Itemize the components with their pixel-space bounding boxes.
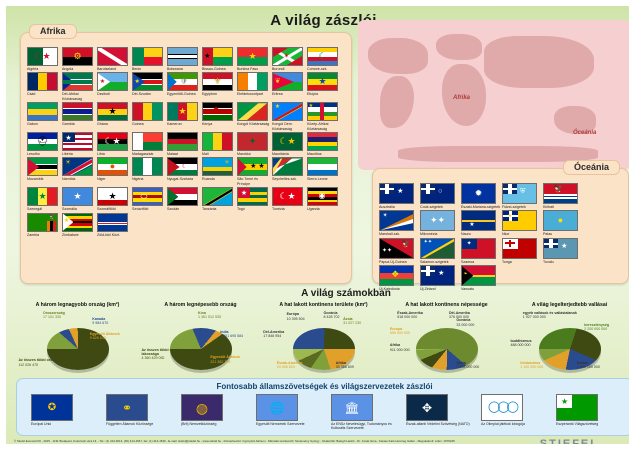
flag-icon: ✦: [461, 238, 496, 259]
flag-icon: [27, 157, 58, 176]
flag-cell: Tonga: [502, 238, 543, 264]
flag-icon: ✶: [272, 47, 303, 66]
flag-cell: ★Niue: [502, 210, 543, 236]
flag-cell: 🛡Egyenlítői-Guinea: [167, 72, 202, 101]
chart-label-value: 9 826 630: [90, 336, 106, 340]
flag-label: Madagaszkár: [132, 152, 167, 156]
flag-label: Marshall-szk.: [379, 232, 420, 236]
flag-icon: ★: [307, 102, 338, 121]
flag-cell: Dél-Afrikai Köztársaság: [62, 72, 97, 101]
flag-icon: ★: [461, 210, 496, 231]
flag-label: Barotseland: [97, 67, 132, 71]
flag-icon: ☾: [167, 157, 198, 176]
flag-icon: [237, 72, 268, 91]
flag-cell: Botswana: [167, 47, 202, 71]
flag-icon: [97, 213, 128, 232]
flag-label: Tanzánia: [202, 207, 237, 211]
flag-label: Tuvalu: [543, 260, 584, 264]
flag-icon: ★: [97, 187, 128, 206]
publisher-brand: STIEFEL: [540, 438, 599, 450]
flag-cell: ★Burkina Faso: [237, 47, 272, 71]
flag-label: Gabon: [27, 122, 62, 126]
organization-cell: ★Eszperantó Világszövetség: [556, 394, 622, 430]
flag-label: Algéria: [27, 67, 62, 71]
flag-icon: [272, 157, 303, 176]
chart-data-label: Egyesült Államok9 826 630: [90, 332, 120, 341]
chart-data-label: Európa690 000 000: [390, 327, 410, 336]
flag-label: Ruanda: [202, 177, 237, 181]
flag-icon: ⛑: [27, 132, 58, 151]
flag-cell: Barotseland: [97, 47, 132, 71]
flag-label: Ausztrália: [379, 205, 420, 209]
flag-cell: ⛨Fidzsi-szigetek: [502, 183, 543, 209]
flag-cell: ☀Ruanda: [202, 157, 237, 186]
flag-icon: ☾★: [27, 47, 58, 66]
flag-label: Elefántcsontpart: [237, 92, 272, 96]
flag-label: Sierra Leone: [307, 177, 342, 181]
flag-icon: ✦: [237, 132, 268, 151]
flag-label: Lesotho: [27, 152, 62, 156]
chart-data-label: Észak-Amerika518 000 000: [397, 311, 423, 320]
chart-label-value: 4 360 429 092: [141, 356, 164, 360]
flag-cell: Seychelles-szk.: [272, 157, 307, 186]
flag-cell: Mozambik: [27, 157, 62, 186]
organization-cell: 🌐Egyesült Nemzetek Szervezete: [256, 394, 322, 430]
flag-label: Nauru: [461, 232, 502, 236]
chart-label-value: 488 000 000: [510, 343, 530, 347]
flag-cell: Elefántcsontpart: [237, 72, 272, 101]
chart-data-label: Az összes többi ország lakossága4 360 42…: [141, 348, 198, 361]
flag-cell: ★Nauru: [461, 210, 502, 236]
chart-label-value: 321 362 789: [210, 360, 230, 364]
flag-cell: Nigéria: [132, 157, 167, 186]
chart-data-label: Afrika30 368 609: [336, 361, 354, 370]
flag-label: Nigéria: [132, 177, 167, 181]
flag-cell: ✦Szamoa: [461, 238, 502, 264]
organization-label: Független Államok Közössége: [106, 422, 172, 426]
chart-label-value: 690 000 000: [390, 331, 410, 335]
flag-cell: Zöld-foki Közt.: [97, 213, 132, 237]
flag-cell: Sierra Leone: [307, 157, 342, 186]
flag-label: Niue: [502, 232, 543, 236]
flag-label: Szomália: [62, 207, 97, 211]
oceania-tab-label: Óceánia: [563, 160, 620, 175]
chart-label-value: 33 000 000: [456, 323, 474, 327]
flag-label: Egyenlítői-Guinea: [167, 92, 202, 96]
flag-label: Szenegál: [27, 207, 62, 211]
flag-cell: Csád: [27, 72, 62, 101]
organization-cell: ✥Észak-atlanti Védelmi Szövetség (NATO): [406, 394, 472, 430]
flag-cell: ★Togó: [237, 187, 272, 211]
flag-cell: ✹Északi-Mariana-szigetek: [461, 183, 502, 209]
flag-icon: ☾★: [272, 187, 303, 206]
chart-title: A három legnagyobb ország (km²): [16, 302, 139, 308]
chart-label-value: 2 200 000 000: [584, 327, 607, 331]
organization-cell: ◯◯◯Az Olimpiai játékok lobogója: [481, 394, 547, 430]
flag-icon: [237, 102, 268, 121]
flag-icon: ✦✦: [420, 210, 455, 231]
flag-cell: ●Palau: [543, 210, 584, 236]
chart-data-label: Kanada9 984 670: [92, 317, 108, 326]
flag-cell: ⬥Kenya: [202, 102, 237, 131]
flag-label: Dél-Afrikai Köztársaság: [62, 92, 97, 101]
chart-title: A hat lakott kontinens népessége: [385, 302, 508, 308]
flag-label: Marokkó: [237, 152, 272, 156]
organizations-title: Fontosabb államszövetségek és világszerv…: [17, 382, 632, 391]
flag-label: Szváziföld: [132, 207, 167, 211]
flag-icon: ✦✦🦅: [379, 238, 414, 259]
flag-label: Kenya: [202, 122, 237, 126]
organization-label: Egyesült Nemzetek Szervezete: [256, 422, 322, 426]
flag-label: Guinea: [132, 122, 167, 126]
flag-icon: ❦: [272, 72, 303, 91]
flag-icon: [97, 47, 128, 66]
organization-flag-icon: ◯◯◯: [481, 394, 523, 421]
flag-label: Szomáliföld: [97, 207, 132, 211]
flag-label: Nyugat-Szahara: [167, 177, 202, 181]
flag-label: São Tomé és Príncipe: [237, 177, 272, 186]
oceania-flag-grid: ★Ausztrália○Cook-szigetek✹Északi-Mariana…: [379, 183, 624, 293]
flag-cell: Guinea: [132, 102, 167, 131]
flag-icon: [27, 102, 58, 121]
chart-label-value: 3 998 000 000: [456, 365, 479, 369]
flag-icon: [202, 132, 233, 151]
flag-label: Eritrea: [272, 92, 307, 96]
organization-label: Eszperantó Világszövetség: [556, 422, 622, 426]
flag-label: Mali: [202, 152, 237, 156]
flag-icon: ⚙: [62, 47, 93, 66]
flag-label: Tunézia: [272, 207, 307, 211]
flag-icon: ★: [272, 102, 303, 121]
flag-label: Zöld-foki Közt.: [97, 233, 132, 237]
flag-label: Szudán: [167, 207, 202, 211]
flag-icon: ❧: [461, 265, 496, 286]
flag-label: Etiópia: [307, 92, 342, 96]
flag-label: Fidzsi-szigetek: [502, 205, 543, 209]
flag-icon: ★: [167, 102, 198, 121]
flag-label: Zimbabwe: [62, 233, 97, 237]
flag-label: Zambia: [27, 233, 62, 237]
organization-cell: 🏛Az ENSz Nevelésügyi, Tudományos és Kult…: [331, 394, 397, 430]
flag-icon: ⛨: [502, 183, 537, 204]
flag-icon: ⚜: [202, 72, 233, 91]
flag-cell: ✴Marshall-szk.: [379, 210, 420, 236]
flag-cell: ★Dél-Szudán: [132, 72, 167, 101]
flag-cell: ★Dzsibuti: [97, 72, 132, 101]
flag-icon: [307, 132, 338, 151]
flag-icon: ☀: [62, 157, 93, 176]
flag-cell: ★Kongói Dem. Köztársaság: [272, 102, 307, 131]
flag-icon: ⬭: [132, 187, 163, 206]
chart-data-label: Afrika911 000 000: [390, 343, 410, 352]
flag-label: Mauritánia: [272, 152, 307, 156]
chart-label-value: 10 395 504: [287, 317, 305, 321]
flag-cell: ★Etiópia: [307, 72, 342, 101]
flag-label: Kamerun: [167, 122, 202, 126]
flag-icon: [132, 157, 163, 176]
flag-cell: ☾Nyugat-Szahara: [167, 157, 202, 186]
chart-label-value: 17 846 954: [263, 334, 281, 338]
chart-label-value: 911 000 000: [390, 348, 410, 352]
flag-icon: ★: [420, 265, 455, 286]
charts-row: A három legnagyobb ország (km²)Oroszorsz…: [16, 302, 631, 376]
map-landmass: [368, 38, 428, 74]
flag-label: Botswana: [167, 67, 202, 71]
flag-icon: [132, 47, 163, 66]
map-landmass: [484, 36, 594, 88]
organization-cell: ⚭Független Államok Közössége: [106, 394, 172, 430]
flag-icon: [132, 102, 163, 121]
chart-label-value: 1 361 512 535: [198, 315, 221, 319]
flag-label: Mauritius: [307, 152, 342, 156]
flag-cell: ☾★Líbia: [97, 132, 132, 156]
chart-label-value: 1 927 000 000: [523, 315, 546, 319]
chart-data-label: buddhizmus488 000 000: [510, 339, 531, 348]
chart-data-label: hinduizmus1 100 000 000: [520, 361, 543, 370]
flag-cell: Kongói Köztársaság: [237, 102, 272, 131]
flag-cell: ★Zimbabwe: [62, 213, 97, 237]
flag-cell: Tanzánia: [202, 187, 237, 211]
flag-cell: ⬭Szváziföld: [132, 187, 167, 211]
africa-panel: Afrika ☾★Algéria⚙AngolaBarotselandBeninB…: [20, 32, 352, 284]
chart-data-label: Kína1 361 512 535: [198, 311, 221, 320]
flag-icon: ★: [97, 102, 128, 121]
flag-label: Ghána: [97, 122, 132, 126]
flag-cell: Mali: [202, 132, 237, 156]
flag-icon: ●: [97, 157, 128, 176]
flag-icon: ★: [543, 238, 578, 259]
flag-label: Comore-szk.: [307, 67, 342, 71]
flag-icon: ☀: [202, 157, 233, 176]
chart-title: A világ legelterjedtebb vallásai: [508, 302, 631, 308]
flag-label: Malawi: [167, 152, 202, 156]
flag-label: Kongói Dem. Köztársaság: [272, 122, 307, 131]
chart-data-label: Óceánia8 428 702: [324, 311, 340, 320]
flag-icon: ★ ★: [237, 157, 268, 176]
flag-icon: ★: [132, 72, 163, 91]
flag-cell: ⚙Angola: [62, 47, 97, 71]
flag-icon: ⬥: [202, 102, 233, 121]
pie-chart: A hat lakott kontinens népességeÁzsia3 9…: [385, 302, 508, 376]
flag-icon: 🦅: [543, 183, 578, 204]
flag-icon: [307, 157, 338, 176]
africa-flag-grid: ☾★Algéria⚙AngolaBarotselandBeninBotswana…: [27, 47, 347, 238]
flag-label: Benin: [132, 67, 167, 71]
flag-icon: ◉: [307, 187, 338, 206]
flag-cell: 🦅Kiribati: [543, 183, 584, 209]
flag-cell: ✦✦Mikronézia: [420, 210, 461, 236]
flag-label: Seychelles-szk.: [272, 177, 307, 181]
flag-label: Palau: [543, 232, 584, 236]
flag-icon: ☾★: [97, 132, 128, 151]
map-label-oceania: Óceánia: [573, 130, 596, 136]
organization-flag-icon: 🌐: [256, 394, 298, 421]
flag-icon: ★: [62, 213, 93, 232]
flag-icon: [502, 238, 537, 259]
chart-label-value: 17 101 330: [43, 315, 61, 319]
flag-label: Cook-szigetek: [420, 205, 461, 209]
flag-label: Tonga: [502, 260, 543, 264]
organizations-row: ✪Európai Unió⚭Független Államok Közösség…: [31, 394, 622, 430]
flag-label: Mikronézia: [420, 232, 461, 236]
flag-cell: ⚜Egyiptom: [202, 72, 237, 101]
flag-cell: ◗Malawi: [167, 132, 202, 156]
flag-label: Dél-Szudán: [132, 92, 167, 96]
flag-label: Vanuatu: [461, 287, 502, 291]
flag-icon: ✹: [461, 183, 496, 204]
flag-cell: ✦✦Salamon-szigetek: [420, 238, 461, 264]
chart-label-value: 1 600 000 000: [577, 365, 600, 369]
flag-icon: ✦✦: [420, 238, 455, 259]
flag-icon: ☾★: [272, 132, 303, 151]
chart-data-label: egyéb vallások és vallástalanok1 927 000…: [523, 311, 577, 320]
flag-cell: ✦Marokkó: [237, 132, 272, 156]
flag-icon: [167, 47, 198, 66]
flag-cell: ★Kamerun: [167, 102, 202, 131]
flag-icon: ◗: [167, 132, 198, 151]
chart-label-value: 9 984 670: [92, 321, 108, 325]
flag-icon: [27, 72, 58, 91]
flag-icon: ★: [307, 72, 338, 91]
pie-chart: A hat lakott kontinens területe (km²)Ázs…: [262, 302, 385, 376]
flag-cell: Benin: [132, 47, 167, 71]
flag-icon: [132, 132, 163, 151]
chart-label-value: 1 251 695 584: [220, 334, 243, 338]
flag-icon: ●: [543, 210, 578, 231]
organization-flag-icon: ⚭: [106, 394, 148, 421]
footer-credits: © Stiefel Eurocart Kft., 2015 - 1131 Bud…: [14, 439, 534, 443]
organization-cell: ◍(Brit) Nemzetközösség: [181, 394, 247, 430]
organization-label: Észak-atlanti Védelmi Szövetség (NATO): [406, 422, 472, 426]
flag-label: Szamoa: [461, 260, 502, 264]
flag-icon: ★: [502, 210, 537, 231]
organization-flag-icon: ★: [556, 394, 598, 421]
flag-icon: ★: [237, 187, 268, 206]
organization-flag-icon: 🏛: [331, 394, 373, 421]
chart-data-label: Oroszország17 101 330: [43, 311, 65, 320]
flag-icon: ★: [237, 47, 268, 66]
chart-data-label: India1 251 695 584: [220, 330, 243, 339]
flag-cell: ★Szomália: [62, 187, 97, 211]
organizations-panel: Fontosabb államszövetségek és világszerv…: [16, 378, 633, 436]
flag-icon: [202, 187, 233, 206]
chart-title: A három legnépesebb ország: [139, 302, 262, 308]
oceania-panel: Óceánia ★Ausztrália○Cook-szigetek✹Északi…: [372, 168, 629, 284]
flag-cell: ◉Uganda: [307, 187, 342, 211]
chart-data-label: Ázsia31 027 230: [343, 317, 361, 326]
flag-icon: ★: [202, 47, 233, 66]
flag-cell: ☾★Tunézia: [272, 187, 307, 211]
flag-cell: ★ ★São Tomé és Príncipe: [237, 157, 272, 186]
flag-icon: ★: [62, 187, 93, 206]
flag-cell: ★Szenegál: [27, 187, 62, 211]
flag-label: Burkina Faso: [237, 67, 272, 71]
flag-label: Kongói Köztársaság: [237, 122, 272, 126]
flag-label: Angola: [62, 67, 97, 71]
flag-icon: ❖: [379, 265, 414, 286]
flag-cell: ○Cook-szigetek: [420, 183, 461, 209]
flag-cell: ☀Namíbia: [62, 157, 97, 186]
organization-flag-icon: ✥: [406, 394, 448, 421]
flag-icon: 🛡: [167, 72, 198, 91]
flag-label: Bissau-Guinea: [202, 67, 237, 71]
chart-data-label: Észak-Amerika24 506 524: [277, 361, 303, 370]
flag-icon: ○: [420, 183, 455, 204]
flag-cell: ★Tuvalu: [543, 238, 584, 264]
flag-cell: ★Bissau-Guinea: [202, 47, 237, 71]
world-map: Afrika Óceánia: [358, 20, 630, 170]
flag-cell: ★Szomáliföld: [97, 187, 132, 211]
poster-root: A világ zászlói Afrika Óceánia Afrika ☾★…: [0, 0, 635, 450]
flag-icon: 🦅: [27, 213, 58, 232]
flag-cell: ★Közép-Afrikai Köztársaság: [307, 102, 342, 131]
chart-label-value: 30 368 609: [336, 365, 354, 369]
chart-data-label: Egyesült Államok321 362 789: [210, 355, 240, 364]
flag-icon: [167, 187, 198, 206]
flag-label: Salamon-szigetek: [420, 260, 461, 264]
chart-data-label: Az összes többi ország112 026 470: [18, 358, 58, 367]
map-label-afrika: Afrika: [453, 95, 470, 101]
flag-icon: ★: [62, 132, 93, 151]
flag-label: Burundi: [272, 67, 307, 71]
organization-label: Az Olimpiai játékok lobogója: [481, 422, 547, 426]
flag-cell: ☾★Mauritánia: [272, 132, 307, 156]
organization-cell: ✪Európai Unió: [31, 394, 97, 430]
organization-flag-icon: ✪: [31, 394, 73, 421]
chart-data-label: Európa10 395 504: [287, 312, 305, 321]
flag-cell: 🦅Zambia: [27, 213, 62, 237]
flag-label: Namíbia: [62, 177, 97, 181]
chart-label-value: 1 100 000 000: [520, 365, 543, 369]
flag-cell: Szudán: [167, 187, 202, 211]
flag-cell: ☾★Algéria: [27, 47, 62, 71]
flag-cell: Gabon: [27, 102, 62, 131]
flag-icon: ★: [97, 72, 128, 91]
chart-title: A hat lakott kontinens területe (km²): [262, 302, 385, 308]
flag-label: Niger: [97, 177, 132, 181]
chart-data-label: Óceánia33 000 000: [456, 318, 474, 327]
africa-tab-label: Afrika: [29, 24, 77, 39]
flag-cell: Gambia: [62, 102, 97, 131]
flag-cell: ★Ghána: [97, 102, 132, 131]
stats-section-title: A világ számokban: [256, 288, 436, 299]
chart-label-value: 518 000 000: [397, 315, 417, 319]
chart-data-label: Dél-Amerika17 846 954: [263, 330, 284, 339]
flag-cell: ✦✦🦅Pápua Új-Guinea: [379, 238, 420, 264]
flag-icon: ★: [27, 187, 58, 206]
chart-label-value: 112 026 470: [18, 363, 38, 367]
flag-icon: [62, 72, 93, 91]
flag-label: Togó: [237, 207, 272, 211]
flag-cell: ❦Eritrea: [272, 72, 307, 101]
organization-label: (Brit) Nemzetközösség: [181, 422, 247, 426]
flag-cell: ⛑Lesotho: [27, 132, 62, 156]
chart-data-label: iszlám1 600 000 000: [577, 361, 600, 370]
chart-label-value: 31 027 230: [343, 321, 361, 325]
flag-label: Északi-Mariana-szigetek: [461, 205, 502, 209]
organization-flag-icon: ◍: [181, 394, 223, 421]
map-landmass: [436, 34, 482, 60]
flag-cell: ☾Comore-szk.: [307, 47, 342, 71]
flag-label: Uganda: [307, 207, 342, 211]
flag-icon: ✴: [379, 210, 414, 231]
flag-label: Kiribati: [543, 205, 584, 209]
chart-label-value: 24 506 524: [277, 365, 295, 369]
flag-cell: ●Niger: [97, 157, 132, 186]
flag-icon: [62, 102, 93, 121]
chart-label-value: 8 428 702: [324, 315, 340, 319]
chart-label-name: Az összes többi ország lakossága: [141, 348, 198, 357]
